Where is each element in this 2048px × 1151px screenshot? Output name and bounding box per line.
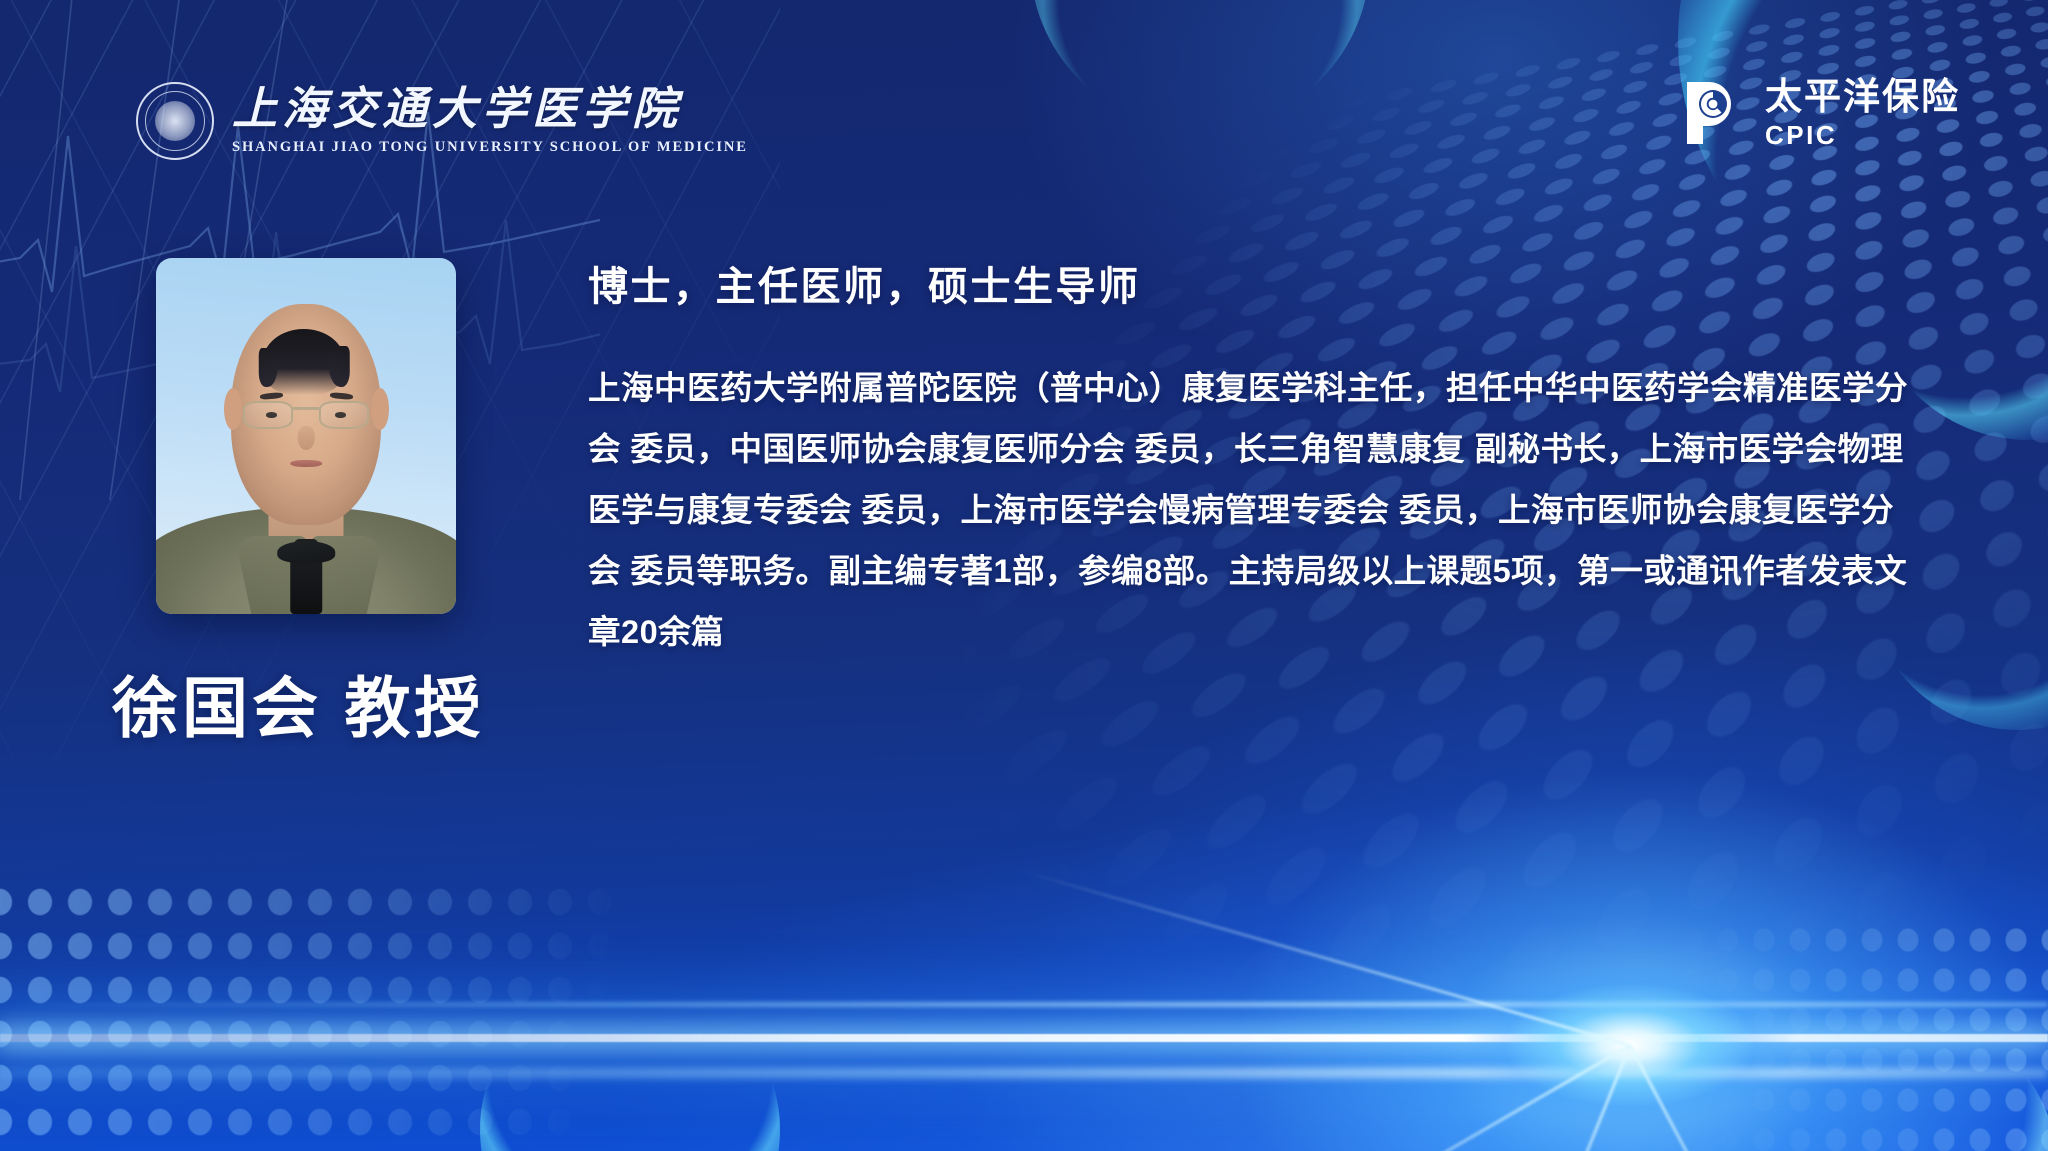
sponsor-name-en: CPIC [1765, 122, 1960, 148]
bio-line: 会 委员等职务。副主编专著1部，参编8部。主持局级以上课题5项，第一或通讯作者发… [588, 541, 1983, 602]
sponsor-logo: 太平洋保险 CPIC [1683, 78, 1960, 148]
presentation-slide: 上海交通大学医学院 SHANGHAI JIAO TONG UNIVERSITY … [0, 0, 2048, 1151]
bio-line: 上海中医药大学附属普陀医院（普中心）康复医学科主任，担任中华中医药学会精准医学分 [588, 358, 1983, 419]
eyeglass-bridge [293, 407, 319, 409]
university-name-en: SHANGHAI JIAO TONG UNIVERSITY SCHOOL OF … [232, 139, 748, 156]
flare-ray-1-decoration [1014, 868, 1630, 1047]
dot-grid-left-decoration [0, 880, 740, 1151]
eyeglass-lens-left [243, 401, 293, 429]
glow-sphere-5-decoration [480, 980, 780, 1151]
speaker-name: 徐国会 教授 [112, 655, 484, 751]
light-streak-upper-decoration [0, 1002, 2048, 1007]
university-name-cn: 上海交通大学医学院 [232, 86, 748, 134]
portrait-photo [156, 258, 456, 614]
bio-line: 章20余篇 [588, 602, 1983, 663]
lens-flare-decoration [1420, 930, 1840, 1151]
speaker-bio: 上海中医药大学附属普陀医院（普中心）康复医学科主任，担任中华中医药学会精准医学分… [588, 358, 1983, 663]
portrait-necktie [290, 539, 322, 614]
cpic-p-mark-icon [1683, 80, 1745, 146]
glow-sphere-4-decoration [1030, 0, 1370, 130]
bio-line: 医学与康复专委会 委员，上海市医学会慢病管理专委会 委员，上海市医师协会康复医学… [588, 480, 1983, 541]
flare-ray-3-decoration [1471, 1045, 1631, 1151]
sponsor-name-cn: 太平洋保险 [1765, 78, 1960, 115]
portrait-mouth [290, 460, 322, 467]
portrait-eyebrow-right [330, 392, 353, 400]
speaker-headline: 博士，主任医师，硕士生导师 [588, 254, 1141, 312]
bio-line: 会 委员，中国医师协会康复医师分会 委员，长三角智慧康复 副秘书长，上海市医学会… [588, 419, 1983, 480]
portrait-head [231, 304, 381, 525]
glow-sphere-6-decoration [1700, 1000, 2048, 1151]
eyeglass-lens-right [319, 401, 369, 429]
flare-ray-2-decoration [1196, 1044, 1631, 1151]
light-streak-lower-decoration [0, 1068, 2048, 1078]
sjtu-crest-icon [136, 82, 214, 160]
flare-ray-4-decoration [1629, 1045, 1810, 1151]
university-logo: 上海交通大学医学院 SHANGHAI JIAO TONG UNIVERSITY … [136, 82, 748, 160]
dot-grid-right-decoration [1638, 920, 2048, 1151]
horizon-light-streak-decoration [0, 1034, 2048, 1042]
portrait-ear-right [371, 388, 389, 430]
portrait-hair [263, 329, 346, 395]
speaker-portrait [156, 258, 456, 614]
portrait-ear-left [224, 388, 242, 430]
portrait-nose [298, 426, 315, 450]
glow-sphere-1-decoration [1678, 0, 2048, 320]
portrait-eyebrow-left [259, 392, 282, 400]
